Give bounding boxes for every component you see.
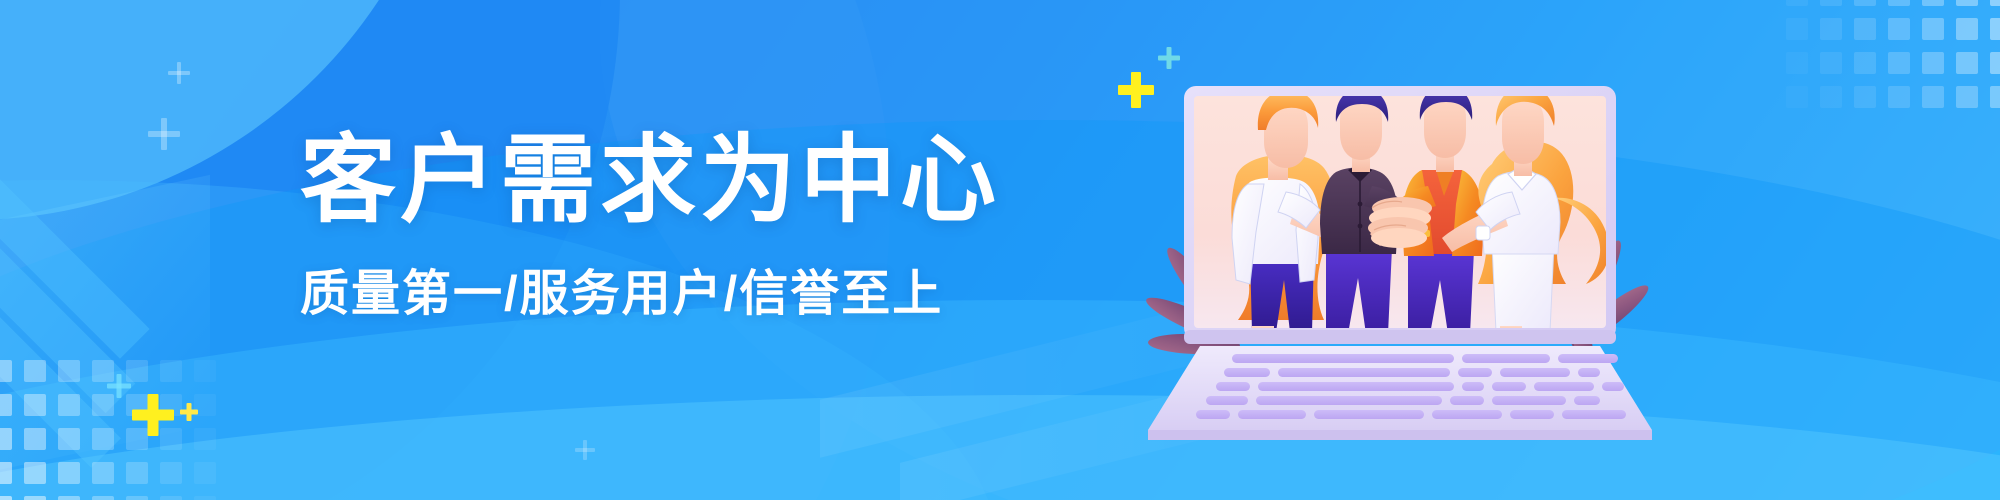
woman-right-cuff xyxy=(1476,226,1490,240)
cyan-plus-icon-bottom-left xyxy=(107,374,131,398)
faint-plus-icon-mid xyxy=(575,440,595,460)
laptop-hinge xyxy=(1184,330,1616,344)
cyan-plus-icon-bottom-left-small xyxy=(180,403,198,421)
laptop-base-edge xyxy=(1148,430,1652,440)
chevron-decoration-1 xyxy=(0,159,150,358)
team-illustration xyxy=(1140,58,1660,458)
chevron-glow-decoration xyxy=(0,175,210,495)
banner-subtitle: 质量第一/服务用户/信誉至上 xyxy=(300,254,1060,325)
dot-grid-top-right xyxy=(1786,0,2000,108)
woman-right-skirt xyxy=(1492,244,1554,332)
faint-plus-icon-top-left xyxy=(168,62,190,84)
promo-banner: 客户需求为中心 质量第一/服务用户/信誉至上 xyxy=(0,0,2000,500)
banner-copy: 客户需求为中心 质量第一/服务用户/信誉至上 xyxy=(300,130,1060,325)
background-blob-d xyxy=(0,0,200,20)
chevron-decoration-2 xyxy=(0,193,135,414)
background-wave-bottom xyxy=(0,395,2000,500)
chevron-decoration-3 xyxy=(0,226,121,468)
stacked-hands xyxy=(1368,197,1432,248)
yellow-plus-icon-bottom-left xyxy=(132,394,174,436)
faint-plus-icon-left xyxy=(148,118,180,150)
dot-grid-bottom-left xyxy=(0,360,216,500)
background-wave-low xyxy=(0,300,2000,500)
page-title: 客户需求为中心 xyxy=(300,130,1060,232)
